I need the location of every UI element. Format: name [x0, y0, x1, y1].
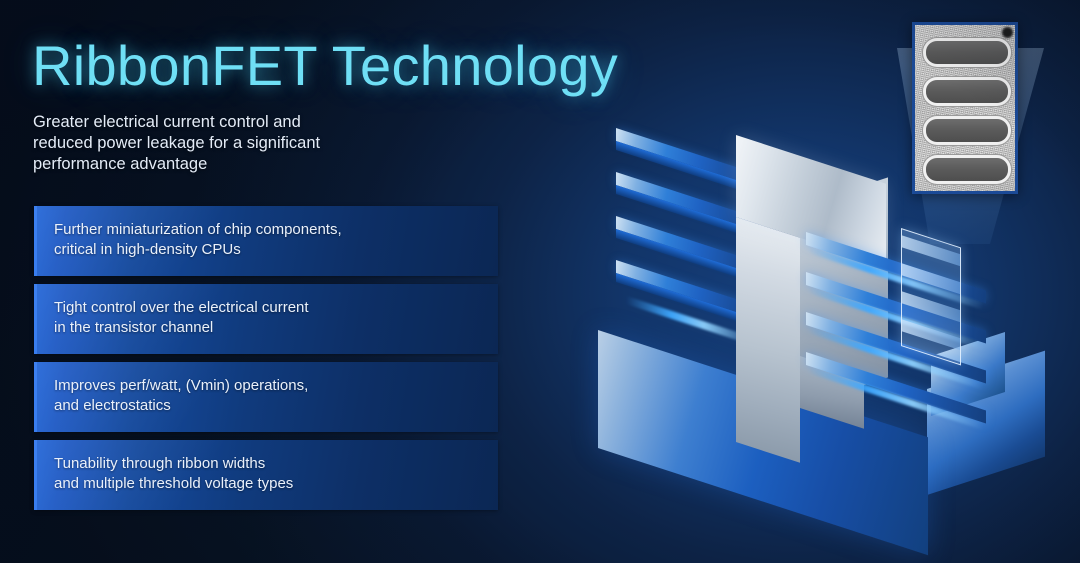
bullet-item-2-label: Tight control over the electrical curren… — [34, 284, 498, 338]
micrograph-ribbon-1 — [926, 41, 1008, 64]
micrograph-ribbon-3 — [926, 119, 1008, 142]
cross-section-slice — [901, 228, 961, 365]
micrograph-ribbon-4 — [926, 158, 1008, 181]
bullet-item-1-label: Further miniaturization of chip componen… — [34, 206, 498, 260]
bullet-item-2: Tight control over the electrical curren… — [34, 284, 498, 354]
bullet-item-4-label: Tunability through ribbon widths and mul… — [34, 440, 498, 494]
ribbonfet-illustration — [556, 0, 1080, 563]
bullet-item-1: Further miniaturization of chip componen… — [34, 206, 498, 276]
gate-left-face — [736, 217, 800, 463]
slice-ribbon-2 — [902, 263, 960, 294]
slide-canvas: RibbonFET Technology Greater electrical … — [0, 0, 1080, 563]
page-title: RibbonFET Technology — [32, 33, 618, 98]
micrograph-ribbon-2 — [926, 80, 1008, 103]
subtitle-text: Greater electrical current control and r… — [33, 112, 413, 175]
micrograph-corner-artifact — [1002, 27, 1013, 38]
tem-micrograph-inset — [912, 22, 1018, 194]
bullet-item-4: Tunability through ribbon widths and mul… — [34, 440, 498, 510]
slice-ribbon-4 — [902, 319, 960, 350]
slice-ribbon-3 — [902, 291, 960, 322]
bullet-item-3-label: Improves perf/watt, (Vmin) operations, a… — [34, 362, 498, 416]
bullet-list: Further miniaturization of chip componen… — [34, 206, 498, 518]
bullet-item-3: Improves perf/watt, (Vmin) operations, a… — [34, 362, 498, 432]
